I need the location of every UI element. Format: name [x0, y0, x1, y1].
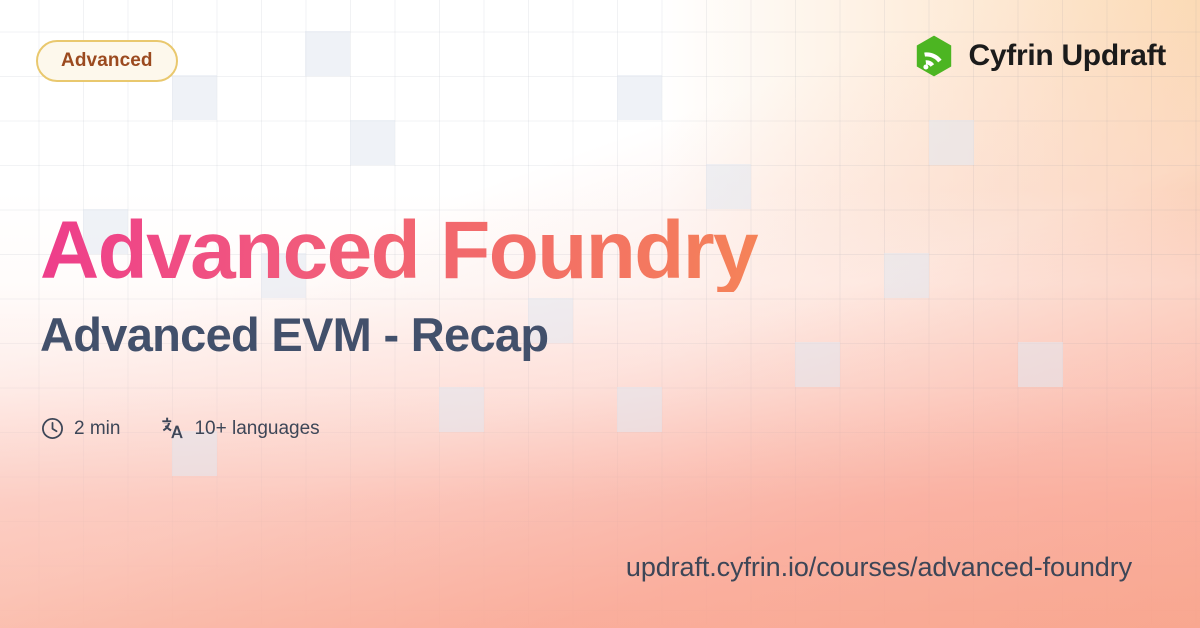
- meta-duration-label: 2 min: [74, 418, 120, 440]
- cyfrin-hexagon-logo-icon: [912, 34, 956, 78]
- meta-languages-label: 10+ languages: [194, 418, 319, 440]
- course-url: updraft.cyfrin.io/courses/advanced-found…: [626, 552, 1132, 583]
- meta-item-duration: 2 min: [40, 416, 120, 441]
- level-badge: Advanced: [36, 40, 178, 82]
- translate-icon: [160, 416, 185, 441]
- course-title: Advanced Foundry: [40, 210, 1070, 292]
- lesson-subtitle: Advanced EVM - Recap: [40, 310, 1070, 359]
- brand-lockup: Cyfrin Updraft: [912, 34, 1166, 78]
- clock-icon: [40, 416, 65, 441]
- level-badge-label: Advanced: [61, 50, 153, 72]
- meta-item-languages: 10+ languages: [160, 416, 319, 441]
- brand-name: Cyfrin Updraft: [969, 39, 1166, 73]
- meta-row: 2 min 10+ languages: [40, 416, 320, 441]
- hero-text-block: Advanced Foundry Advanced EVM - Recap: [40, 210, 1070, 359]
- course-share-card: Advanced Cyfrin Updraft Advanced Foundry…: [0, 0, 1200, 628]
